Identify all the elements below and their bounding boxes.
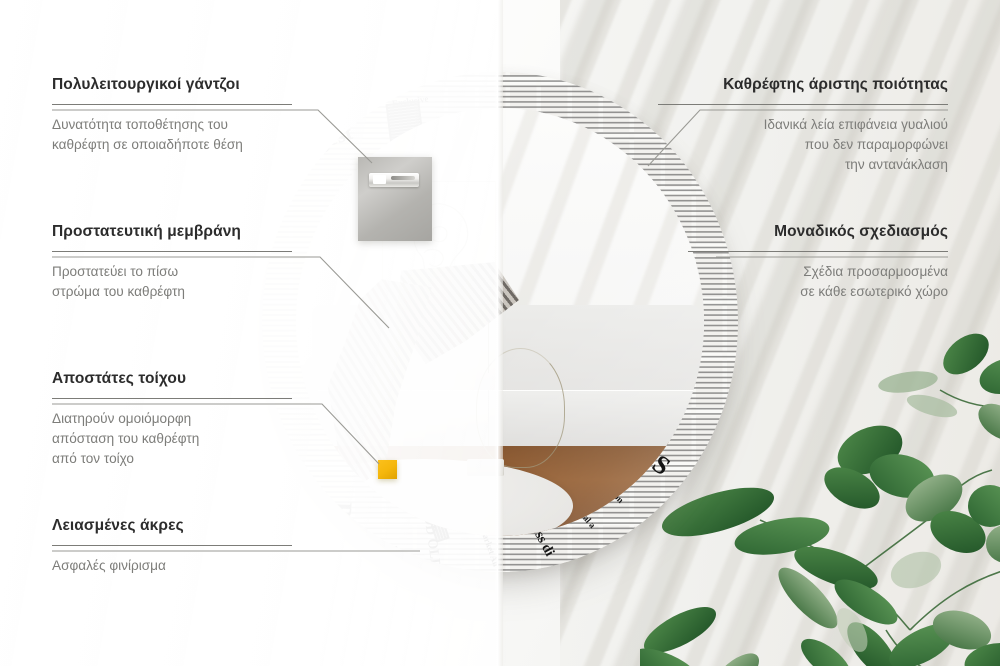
callout-edges-rule: [52, 545, 292, 546]
callout-spacers-description: Διατηρούν ομοιόμορφη απόσταση του καθρέφ…: [52, 409, 292, 470]
callout-membrane-rule: [52, 251, 292, 252]
callout-quality-mirror-description: Ιδανικά λεία επιφάνεια γυαλιού που δεν π…: [658, 115, 948, 176]
callout-hooks-title: Πολυλειτουργικοί γάντζοι: [52, 76, 292, 95]
callout-quality-mirror-rule: [658, 104, 948, 105]
callout-spacers: Αποστάτες τοίχου Διατηρούν ομοιόμορφη απ…: [52, 370, 292, 470]
callout-unique-design: Μοναδικός σχεδιασμός Σχέδια προσαρμοσμέν…: [688, 223, 948, 302]
callout-edges-title: Λειασμένες άκρες: [52, 517, 292, 536]
callout-spacers-title: Αποστάτες τοίχου: [52, 370, 292, 389]
callout-hooks-description: Δυνατότητα τοποθέτησης του καθρέφτη σε ο…: [52, 115, 292, 156]
infographic-canvas: digestExclusive2019Market AnD NEWSIntern…: [0, 0, 1000, 666]
callout-unique-design-title: Μοναδικός σχεδιασμός: [688, 223, 948, 242]
callout-membrane: Προστατευτική μεμβράνη Προστατεύει το πί…: [52, 223, 292, 302]
callout-quality-mirror: Καθρέφτης άριστης ποιότητας Ιδανικά λεία…: [658, 76, 948, 176]
callout-edges: Λειασμένες άκρες Ασφαλές φινίρισμα: [52, 517, 292, 576]
callout-unique-design-rule: [688, 251, 948, 252]
callout-edges-description: Ασφαλές φινίρισμα: [52, 556, 292, 576]
callout-membrane-title: Προστατευτική μεμβράνη: [52, 223, 292, 242]
callout-hooks: Πολυλειτουργικοί γάντζοι Δυνατότητα τοπο…: [52, 76, 292, 155]
callout-unique-design-description: Σχέδια προσαρμοσμένα σε κάθε εσωτερικό χ…: [688, 262, 948, 303]
white-overlay-panel-edge: [494, 0, 503, 666]
hook-icon: [369, 173, 419, 187]
callout-hooks-rule: [52, 104, 292, 105]
callout-spacers-rule: [52, 398, 292, 399]
callout-membrane-description: Προστατεύει το πίσω στρώμα του καθρέφτη: [52, 262, 292, 303]
hook-detail-swatch: [358, 157, 432, 241]
wall-spacer-detail-swatch: [378, 460, 397, 479]
callout-quality-mirror-title: Καθρέφτης άριστης ποιότητας: [658, 76, 948, 95]
